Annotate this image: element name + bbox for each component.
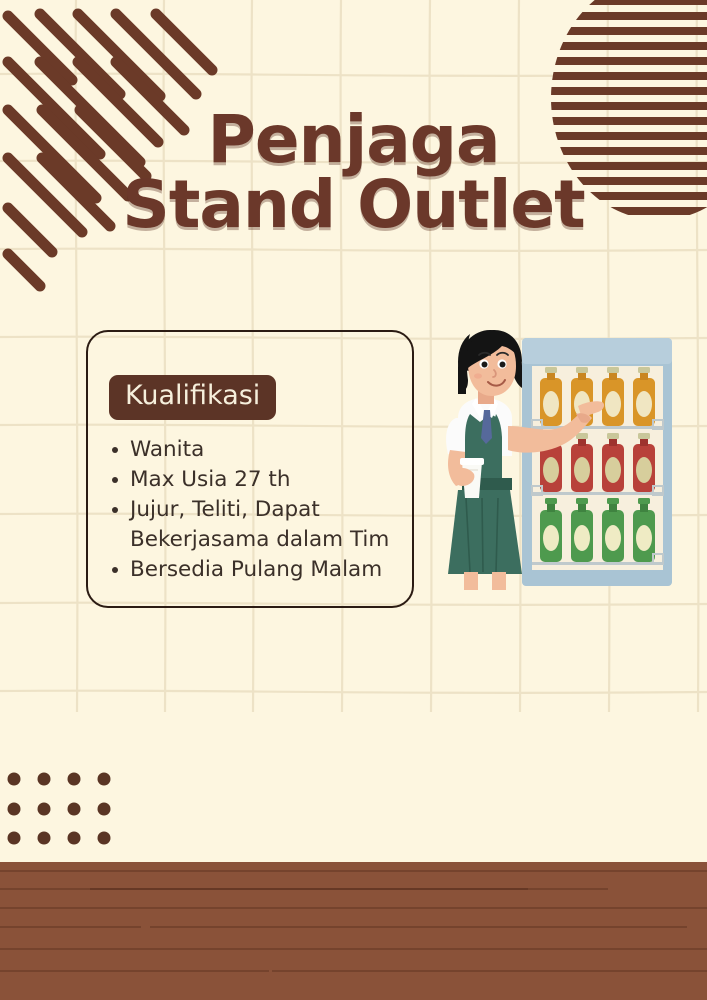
- shelf-row-green: [532, 498, 663, 565]
- list-item: Wanita: [110, 435, 402, 464]
- list-item-text: Jujur, Teliti, Dapat: [130, 497, 320, 522]
- shelf-row-amber: [532, 367, 663, 429]
- list-item-text: Bersedia Pulang Malam: [130, 557, 382, 582]
- poster-title-line-2: Stand Outlet: [0, 173, 707, 238]
- list-item-text: Max Usia 27 th: [130, 467, 290, 492]
- list-item: Max Usia 27 th: [110, 465, 402, 494]
- list-item-text-continuation: Bekerjasama dalam Tim: [130, 525, 402, 554]
- shelf-row-red: [532, 433, 663, 495]
- list-item: Bersedia Pulang Malam: [110, 555, 402, 584]
- poster-title: Penjaga Stand Outlet: [0, 108, 707, 237]
- qualification-badge: Kualifikasi: [109, 375, 276, 420]
- poster-title-line-1: Penjaga: [0, 108, 707, 173]
- qualification-list: Wanita Max Usia 27 th Jujur, Teliti, Dap…: [110, 435, 402, 585]
- job-vacancy-poster: Penjaga Stand Outlet Kualifikasi Wanita …: [0, 0, 707, 1000]
- qualification-card: Kualifikasi Wanita Max Usia 27 th Jujur,…: [86, 330, 414, 608]
- wood-plank-band: [0, 862, 707, 1000]
- list-item-text: Wanita: [130, 437, 204, 462]
- shopkeeper-at-beverage-fridge-illustration: [436, 322, 688, 612]
- dot-grid-decoration-icon: [0, 765, 130, 857]
- list-item: Jujur, Teliti, Dapat Bekerjasama dalam T…: [110, 495, 402, 553]
